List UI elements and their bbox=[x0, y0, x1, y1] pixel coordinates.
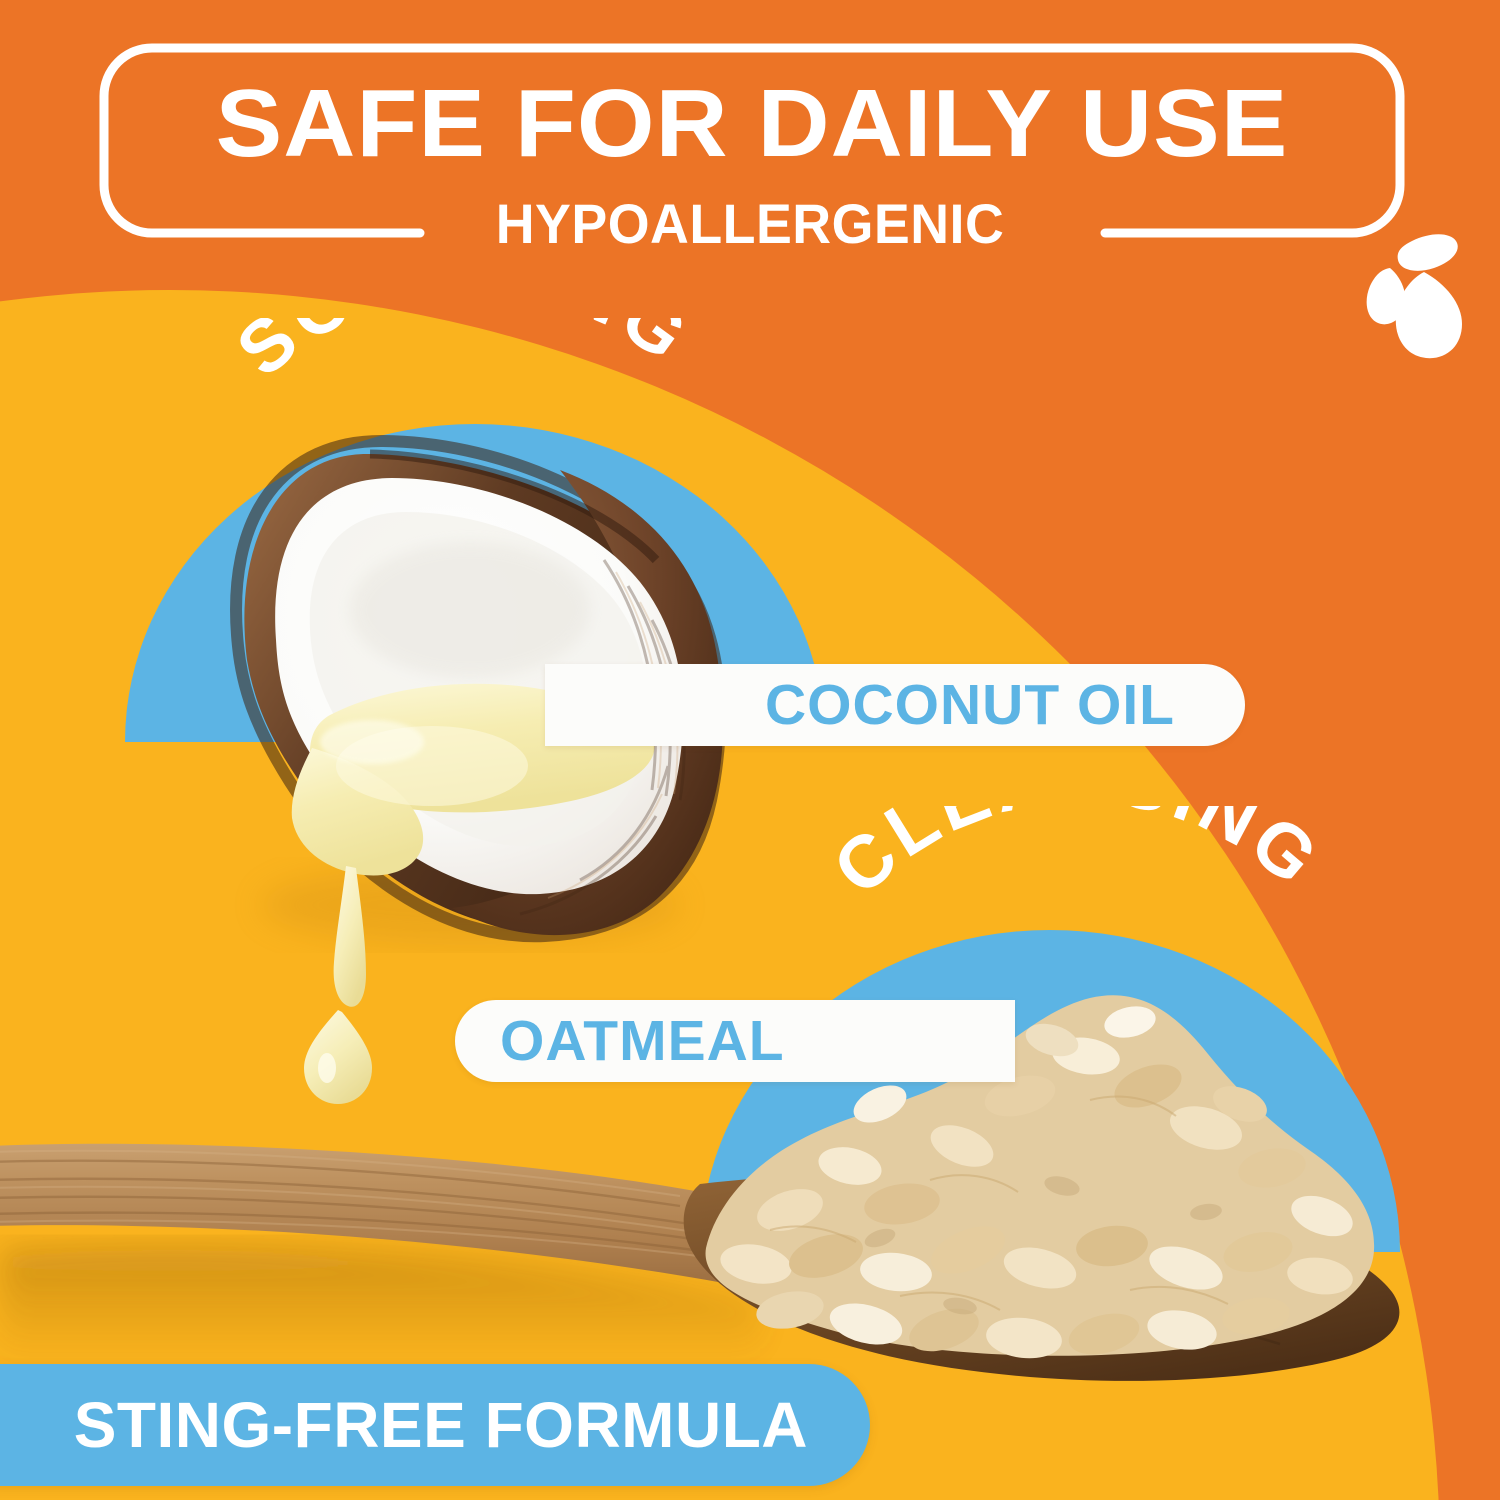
ingredient-pill-oatmeal[interactable]: OATMEAL bbox=[455, 1000, 1015, 1082]
page-subtitle: HYPOALLERGENIC bbox=[30, 196, 1470, 252]
sting-free-formula-badge[interactable]: STING-FREE FORMULA bbox=[0, 1364, 870, 1486]
page-title: SAFE FOR DAILY USE bbox=[78, 76, 1426, 172]
droplet-splash-icon bbox=[1367, 234, 1462, 358]
infographic-canvas: SAFE FOR DAILY USE HYPOALLERGENIC SOOTHI… bbox=[0, 0, 1500, 1500]
ingredient-pill-coconut-oil[interactable]: COCONUT OIL bbox=[545, 664, 1245, 746]
sting-free-formula-label: STING-FREE FORMULA bbox=[74, 1388, 808, 1462]
ingredient-pill-coconut-oil-label: COCONUT OIL bbox=[765, 672, 1175, 738]
ingredient-pill-oatmeal-label: OATMEAL bbox=[500, 1008, 785, 1074]
